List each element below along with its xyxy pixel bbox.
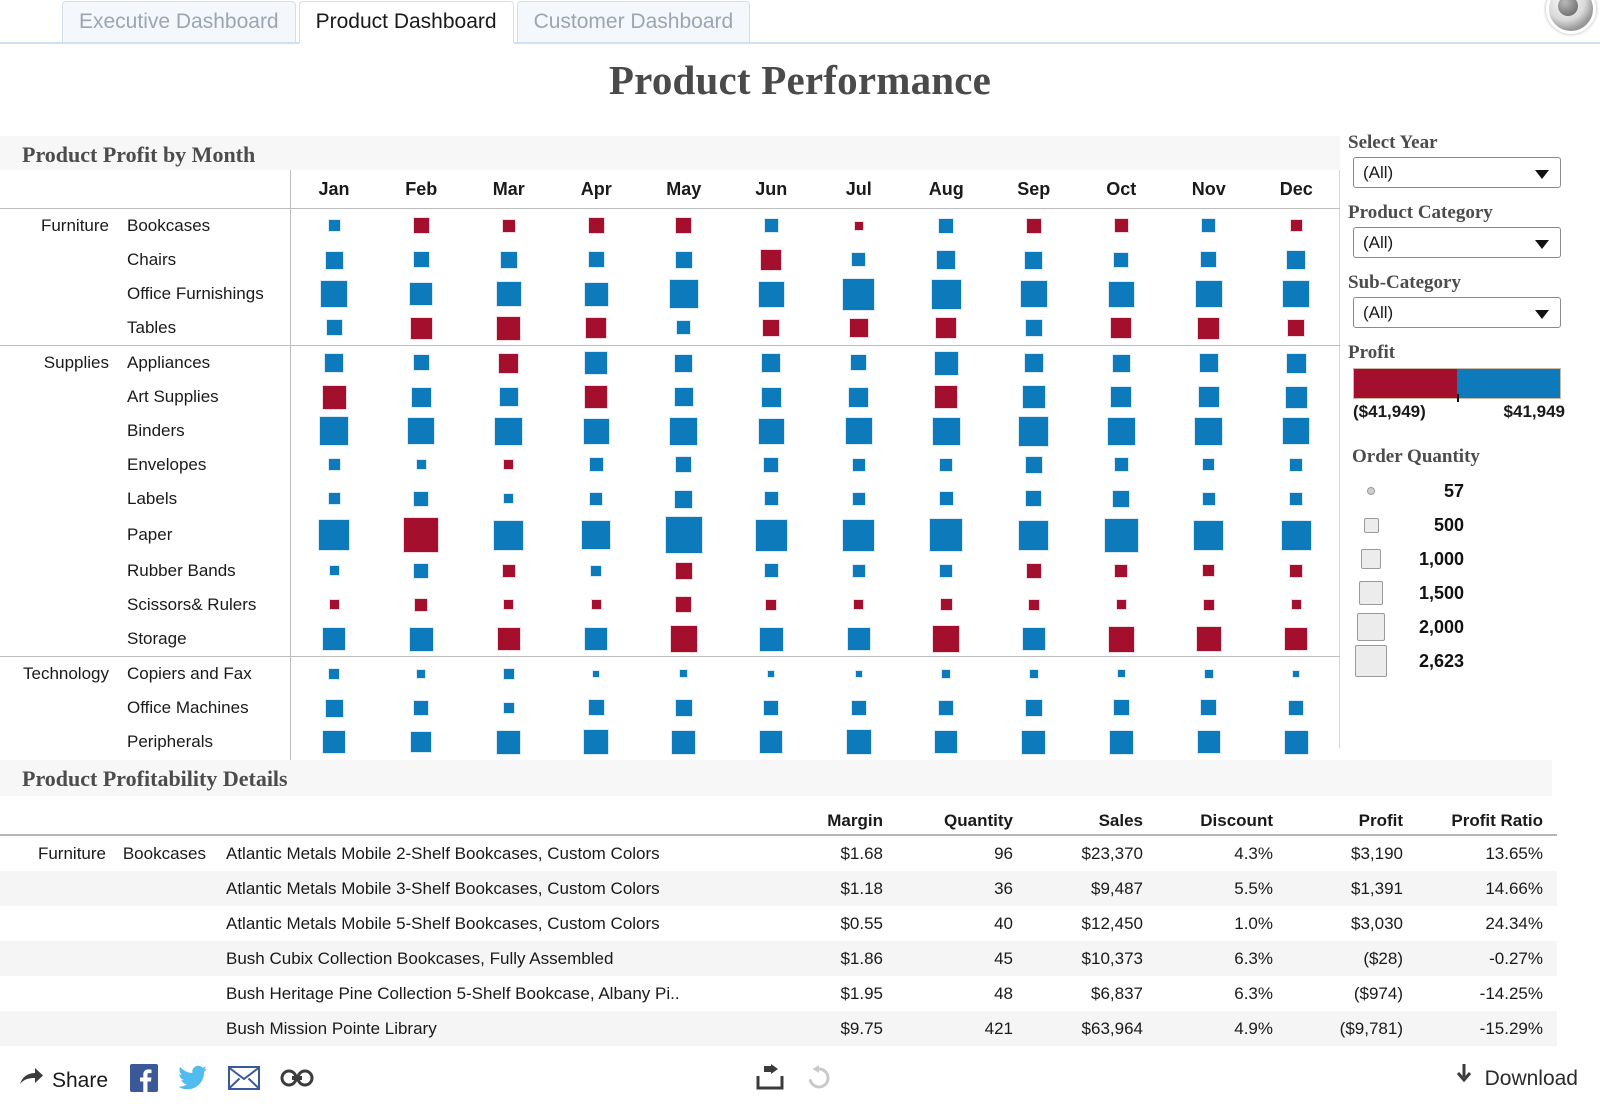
matrix-mark-square[interactable]: [763, 700, 779, 716]
matrix-mark-cell[interactable]: [465, 448, 553, 482]
matrix-mark-square[interactable]: [1022, 627, 1046, 651]
matrix-mark-cell[interactable]: [728, 243, 816, 277]
matrix-mark-cell[interactable]: [553, 209, 641, 244]
matrix-mark-cell[interactable]: [728, 448, 816, 482]
matrix-mark-square[interactable]: [1112, 354, 1131, 373]
matrix-mark-square[interactable]: [1024, 251, 1043, 270]
sub-category-dropdown[interactable]: (All): [1353, 297, 1561, 328]
matrix-mark-square[interactable]: [764, 218, 779, 233]
matrix-mark-square[interactable]: [758, 281, 785, 308]
matrix-mark-square[interactable]: [1292, 670, 1300, 678]
matrix-subcategory-label[interactable]: Chairs: [115, 243, 290, 277]
matrix-mark-cell[interactable]: [815, 691, 903, 725]
matrix-mark-square[interactable]: [1108, 281, 1135, 308]
matrix-mark-square[interactable]: [850, 354, 867, 371]
matrix-mark-square[interactable]: [763, 457, 779, 473]
matrix-mark-square[interactable]: [670, 625, 698, 653]
matrix-mark-cell[interactable]: [1165, 554, 1253, 588]
matrix-mark-cell[interactable]: [378, 516, 466, 554]
matrix-subcategory-label[interactable]: Envelopes: [115, 448, 290, 482]
matrix-mark-square[interactable]: [1204, 669, 1214, 679]
matrix-mark-cell[interactable]: [1253, 588, 1341, 622]
matrix-mark-cell[interactable]: [1165, 311, 1253, 346]
matrix-mark-cell[interactable]: [290, 482, 378, 516]
matrix-mark-square[interactable]: [852, 458, 866, 472]
matrix-mark-square[interactable]: [938, 700, 954, 716]
matrix-mark-square[interactable]: [1114, 218, 1129, 233]
matrix-subcategory-label[interactable]: Office Furnishings: [115, 277, 290, 311]
matrix-mark-square[interactable]: [935, 317, 957, 339]
matrix-mark-square[interactable]: [938, 218, 954, 234]
matrix-mark-cell[interactable]: [903, 448, 991, 482]
matrix-mark-cell[interactable]: [465, 277, 553, 311]
matrix-mark-cell[interactable]: [640, 209, 728, 244]
matrix-mark-cell[interactable]: [465, 691, 553, 725]
matrix-mark-cell[interactable]: [728, 277, 816, 311]
matrix-mark-cell[interactable]: [378, 380, 466, 414]
matrix-mark-cell[interactable]: [1253, 554, 1341, 588]
matrix-mark-cell[interactable]: [990, 725, 1078, 759]
matrix-mark-cell[interactable]: [903, 657, 991, 692]
matrix-mark-square[interactable]: [329, 565, 340, 576]
matrix-mark-cell[interactable]: [815, 243, 903, 277]
matrix-mark-square[interactable]: [1287, 319, 1305, 337]
matrix-mark-square[interactable]: [1195, 280, 1223, 308]
matrix-mark-cell[interactable]: [378, 311, 466, 346]
matrix-mark-cell[interactable]: [1078, 554, 1166, 588]
profit-color-legend[interactable]: [1353, 368, 1561, 399]
matrix-mark-square[interactable]: [1196, 626, 1222, 652]
matrix-mark-square[interactable]: [671, 730, 696, 755]
matrix-category-label[interactable]: [0, 448, 115, 482]
matrix-mark-cell[interactable]: [640, 380, 728, 414]
matrix-mark-cell[interactable]: [290, 243, 378, 277]
matrix-mark-square[interactable]: [322, 730, 346, 754]
matrix-mark-square[interactable]: [1029, 669, 1039, 679]
revert-icon[interactable]: [805, 1064, 833, 1097]
table-row[interactable]: Bush Heritage Pine Collection 5-Shelf Bo…: [0, 976, 1557, 1011]
matrix-mark-cell[interactable]: [1078, 725, 1166, 759]
matrix-mark-cell[interactable]: [990, 554, 1078, 588]
matrix-mark-cell[interactable]: [1078, 209, 1166, 244]
matrix-mark-cell[interactable]: [903, 725, 991, 759]
matrix-mark-square[interactable]: [1025, 456, 1043, 474]
matrix-category-label[interactable]: Supplies: [0, 346, 115, 381]
matrix-category-label[interactable]: [0, 311, 115, 346]
matrix-mark-cell[interactable]: [903, 277, 991, 311]
matrix-category-label[interactable]: [0, 691, 115, 725]
matrix-mark-square[interactable]: [1021, 730, 1046, 755]
matrix-mark-square[interactable]: [764, 563, 779, 578]
matrix-mark-cell[interactable]: [990, 380, 1078, 414]
matrix-mark-cell[interactable]: [990, 516, 1078, 554]
viz-control-knob-icon[interactable]: [1546, 0, 1596, 34]
matrix-mark-square[interactable]: [498, 353, 519, 374]
matrix-mark-square[interactable]: [1109, 730, 1134, 755]
matrix-mark-square[interactable]: [675, 596, 692, 613]
details-col-profit[interactable]: Profit: [1287, 798, 1417, 835]
matrix-mark-cell[interactable]: [640, 482, 728, 516]
matrix-mark-cell[interactable]: [465, 311, 553, 346]
matrix-mark-cell[interactable]: [465, 380, 553, 414]
matrix-mark-cell[interactable]: [1165, 346, 1253, 381]
matrix-mark-square[interactable]: [767, 670, 775, 678]
link-icon[interactable]: [280, 1068, 314, 1093]
matrix-mark-cell[interactable]: [728, 691, 816, 725]
matrix-mark-cell[interactable]: [728, 380, 816, 414]
matrix-mark-cell[interactable]: [290, 691, 378, 725]
matrix-mark-cell[interactable]: [728, 554, 816, 588]
matrix-mark-square[interactable]: [410, 317, 433, 340]
matrix-category-label[interactable]: [0, 482, 115, 516]
matrix-mark-square[interactable]: [940, 598, 953, 611]
matrix-mark-cell[interactable]: [640, 346, 728, 381]
matrix-mark-square[interactable]: [760, 249, 782, 271]
matrix-category-label[interactable]: Furniture: [0, 209, 115, 244]
matrix-mark-square[interactable]: [319, 416, 349, 446]
matrix-mark-square[interactable]: [1018, 416, 1049, 447]
matrix-mark-square[interactable]: [1203, 599, 1215, 611]
matrix-mark-cell[interactable]: [728, 516, 816, 554]
matrix-mark-cell[interactable]: [1078, 657, 1166, 692]
matrix-mark-cell[interactable]: [728, 311, 816, 346]
matrix-mark-cell[interactable]: [378, 209, 466, 244]
matrix-mark-square[interactable]: [1201, 218, 1216, 233]
matrix-mark-square[interactable]: [411, 387, 432, 408]
matrix-category-label[interactable]: [0, 277, 115, 311]
matrix-mark-square[interactable]: [1200, 699, 1217, 716]
matrix-mark-square[interactable]: [1202, 564, 1215, 577]
matrix-mark-cell[interactable]: [1165, 691, 1253, 725]
matrix-mark-square[interactable]: [328, 668, 340, 680]
matrix-mark-cell[interactable]: [990, 448, 1078, 482]
matrix-mark-square[interactable]: [1286, 250, 1306, 270]
matrix-mark-square[interactable]: [676, 320, 691, 335]
matrix-mark-cell[interactable]: [1253, 380, 1341, 414]
matrix-mark-cell[interactable]: [1165, 277, 1253, 311]
matrix-mark-square[interactable]: [1290, 219, 1303, 232]
matrix-mark-square[interactable]: [1028, 599, 1040, 611]
matrix-mark-cell[interactable]: [1165, 725, 1253, 759]
matrix-mark-square[interactable]: [403, 517, 439, 553]
matrix-mark-cell[interactable]: [553, 622, 641, 657]
matrix-mark-square[interactable]: [1026, 218, 1042, 234]
matrix-mark-square[interactable]: [932, 417, 961, 446]
matrix-mark-cell[interactable]: [1165, 209, 1253, 244]
matrix-mark-square[interactable]: [762, 319, 780, 337]
matrix-mark-cell[interactable]: [465, 554, 553, 588]
matrix-mark-square[interactable]: [499, 387, 519, 407]
matrix-mark-square[interactable]: [502, 219, 516, 233]
select-year-dropdown[interactable]: (All): [1353, 157, 1561, 188]
matrix-mark-square[interactable]: [1281, 520, 1312, 551]
matrix-mark-cell[interactable]: [553, 277, 641, 311]
matrix-mark-square[interactable]: [675, 456, 692, 473]
matrix-mark-cell[interactable]: [290, 346, 378, 381]
matrix-mark-cell[interactable]: [728, 588, 816, 622]
matrix-mark-cell[interactable]: [465, 482, 553, 516]
matrix-mark-cell[interactable]: [290, 657, 378, 692]
matrix-mark-cell[interactable]: [728, 725, 816, 759]
matrix-mark-cell[interactable]: [1078, 311, 1166, 346]
product-category-dropdown[interactable]: (All): [1353, 227, 1561, 258]
matrix-mark-square[interactable]: [1107, 417, 1136, 446]
matrix-mark-cell[interactable]: [1165, 380, 1253, 414]
matrix-mark-cell[interactable]: [990, 588, 1078, 622]
matrix-mark-cell[interactable]: [640, 516, 728, 554]
matrix-mark-cell[interactable]: [990, 311, 1078, 346]
table-row[interactable]: FurnitureBookcasesAtlantic Metals Mobile…: [0, 835, 1557, 871]
matrix-category-label[interactable]: [0, 622, 115, 657]
matrix-mark-cell[interactable]: [465, 209, 553, 244]
matrix-mark-cell[interactable]: [1253, 414, 1341, 448]
matrix-mark-cell[interactable]: [903, 622, 991, 657]
matrix-mark-square[interactable]: [503, 668, 515, 680]
matrix-mark-square[interactable]: [409, 627, 434, 652]
matrix-mark-cell[interactable]: [990, 209, 1078, 244]
matrix-mark-cell[interactable]: [815, 209, 903, 244]
matrix-mark-cell[interactable]: [640, 725, 728, 759]
matrix-mark-square[interactable]: [410, 731, 432, 753]
matrix-mark-square[interactable]: [1289, 492, 1303, 506]
matrix-mark-cell[interactable]: [1253, 448, 1341, 482]
matrix-mark-cell[interactable]: [553, 588, 641, 622]
matrix-mark-cell[interactable]: [378, 588, 466, 622]
matrix-subcategory-label[interactable]: Storage: [115, 622, 290, 657]
matrix-mark-square[interactable]: [675, 251, 693, 269]
matrix-mark-square[interactable]: [1025, 490, 1042, 507]
matrix-mark-square[interactable]: [758, 418, 785, 445]
matrix-mark-square[interactable]: [591, 599, 602, 610]
matrix-mark-cell[interactable]: [290, 311, 378, 346]
matrix-category-label[interactable]: [0, 554, 115, 588]
matrix-mark-cell[interactable]: [290, 209, 378, 244]
matrix-mark-square[interactable]: [675, 562, 693, 580]
matrix-mark-cell[interactable]: [1165, 657, 1253, 692]
matrix-mark-cell[interactable]: [640, 448, 728, 482]
matrix-subcategory-label[interactable]: Scissors& Rulers: [115, 588, 290, 622]
download-group[interactable]: Download: [1453, 1064, 1578, 1093]
matrix-mark-cell[interactable]: [553, 516, 641, 554]
matrix-mark-square[interactable]: [1113, 699, 1130, 716]
matrix-subcategory-label[interactable]: Tables: [115, 311, 290, 346]
matrix-mark-square[interactable]: [589, 492, 603, 506]
matrix-mark-cell[interactable]: [815, 657, 903, 692]
matrix-mark-square[interactable]: [583, 418, 610, 445]
matrix-mark-square[interactable]: [1026, 563, 1042, 579]
matrix-mark-square[interactable]: [1117, 669, 1126, 678]
matrix-mark-square[interactable]: [413, 700, 429, 716]
matrix-mark-square[interactable]: [503, 493, 514, 504]
matrix-mark-square[interactable]: [584, 351, 608, 375]
tab-product-dashboard[interactable]: Product Dashboard: [299, 1, 514, 44]
matrix-mark-cell[interactable]: [903, 414, 991, 448]
matrix-mark-square[interactable]: [679, 669, 688, 678]
matrix-mark-cell[interactable]: [378, 691, 466, 725]
share-arrow-icon[interactable]: [18, 1067, 44, 1094]
matrix-mark-square[interactable]: [1022, 385, 1046, 409]
matrix-mark-cell[interactable]: [553, 657, 641, 692]
matrix-mark-square[interactable]: [1197, 317, 1220, 340]
matrix-mark-cell[interactable]: [640, 277, 728, 311]
matrix-mark-cell[interactable]: [728, 414, 816, 448]
matrix-mark-cell[interactable]: [728, 209, 816, 244]
matrix-mark-square[interactable]: [503, 599, 514, 610]
matrix-mark-square[interactable]: [1285, 386, 1308, 409]
matrix-mark-cell[interactable]: [990, 657, 1078, 692]
matrix-mark-square[interactable]: [936, 250, 956, 270]
matrix-mark-cell[interactable]: [465, 414, 553, 448]
matrix-mark-cell[interactable]: [290, 516, 378, 554]
tab-executive-dashboard[interactable]: Executive Dashboard: [62, 1, 296, 44]
matrix-mark-square[interactable]: [325, 699, 344, 718]
matrix-mark-square[interactable]: [1202, 492, 1216, 506]
matrix-mark-square[interactable]: [849, 318, 869, 338]
matrix-mark-square[interactable]: [409, 282, 433, 306]
matrix-mark-square[interactable]: [592, 670, 600, 678]
matrix-mark-square[interactable]: [585, 317, 607, 339]
matrix-mark-cell[interactable]: [553, 311, 641, 346]
matrix-mark-square[interactable]: [852, 492, 866, 506]
matrix-mark-cell[interactable]: [815, 346, 903, 381]
matrix-mark-cell[interactable]: [903, 311, 991, 346]
matrix-mark-cell[interactable]: [553, 346, 641, 381]
matrix-mark-square[interactable]: [588, 251, 605, 268]
matrix-mark-cell[interactable]: [378, 346, 466, 381]
export-icon[interactable]: [755, 1064, 785, 1097]
matrix-mark-cell[interactable]: [290, 725, 378, 759]
matrix-mark-cell[interactable]: [1165, 516, 1253, 554]
matrix-mark-square[interactable]: [665, 516, 703, 554]
matrix-mark-cell[interactable]: [378, 622, 466, 657]
matrix-mark-cell[interactable]: [1253, 691, 1341, 725]
matrix-mark-square[interactable]: [416, 669, 426, 679]
matrix-mark-square[interactable]: [1104, 518, 1139, 553]
matrix-mark-square[interactable]: [1025, 319, 1043, 337]
matrix-mark-square[interactable]: [1114, 564, 1128, 578]
matrix-mark-square[interactable]: [941, 669, 951, 679]
matrix-mark-cell[interactable]: [290, 622, 378, 657]
matrix-mark-cell[interactable]: [640, 657, 728, 692]
matrix-mark-square[interactable]: [329, 599, 340, 610]
matrix-mark-cell[interactable]: [465, 243, 553, 277]
twitter-icon[interactable]: [178, 1064, 208, 1097]
matrix-mark-cell[interactable]: [378, 725, 466, 759]
matrix-mark-cell[interactable]: [990, 414, 1078, 448]
matrix-mark-cell[interactable]: [640, 554, 728, 588]
matrix-mark-square[interactable]: [934, 385, 958, 409]
matrix-mark-square[interactable]: [413, 354, 430, 371]
matrix-mark-cell[interactable]: [1253, 346, 1341, 381]
matrix-mark-square[interactable]: [413, 491, 429, 507]
matrix-mark-cell[interactable]: [1078, 691, 1166, 725]
matrix-mark-cell[interactable]: [903, 380, 991, 414]
matrix-mark-square[interactable]: [1289, 564, 1303, 578]
matrix-mark-square[interactable]: [1112, 490, 1130, 508]
matrix-mark-square[interactable]: [1113, 252, 1129, 268]
matrix-mark-square[interactable]: [588, 217, 605, 234]
matrix-mark-cell[interactable]: [815, 554, 903, 588]
matrix-mark-square[interactable]: [1282, 417, 1310, 445]
matrix-mark-cell[interactable]: [1078, 277, 1166, 311]
matrix-mark-square[interactable]: [669, 417, 698, 446]
matrix-mark-cell[interactable]: [465, 588, 553, 622]
matrix-mark-square[interactable]: [1286, 353, 1307, 374]
matrix-mark-square[interactable]: [322, 385, 347, 410]
matrix-mark-cell[interactable]: [640, 311, 728, 346]
matrix-mark-cell[interactable]: [990, 482, 1078, 516]
matrix-mark-cell[interactable]: [1253, 482, 1341, 516]
matrix-mark-square[interactable]: [497, 627, 521, 651]
matrix-mark-square[interactable]: [324, 353, 344, 373]
matrix-mark-square[interactable]: [496, 316, 521, 341]
matrix-mark-square[interactable]: [1020, 280, 1048, 308]
matrix-mark-square[interactable]: [1288, 700, 1304, 716]
matrix-mark-cell[interactable]: [1165, 448, 1253, 482]
matrix-mark-cell[interactable]: [553, 691, 641, 725]
matrix-mark-square[interactable]: [1200, 251, 1217, 268]
matrix-mark-square[interactable]: [674, 354, 693, 373]
details-col-margin[interactable]: Margin: [767, 798, 897, 835]
matrix-mark-square[interactable]: [590, 565, 602, 577]
matrix-mark-cell[interactable]: [903, 588, 991, 622]
matrix-category-label[interactable]: [0, 516, 115, 554]
matrix-mark-cell[interactable]: [1078, 380, 1166, 414]
matrix-mark-cell[interactable]: [378, 482, 466, 516]
matrix-mark-square[interactable]: [1194, 417, 1223, 446]
matrix-mark-cell[interactable]: [1078, 588, 1166, 622]
matrix-mark-cell[interactable]: [903, 554, 991, 588]
matrix-mark-cell[interactable]: [378, 277, 466, 311]
matrix-mark-square[interactable]: [675, 699, 693, 717]
matrix-mark-square[interactable]: [851, 252, 866, 267]
matrix-mark-cell[interactable]: [1165, 482, 1253, 516]
matrix-mark-square[interactable]: [759, 730, 783, 754]
matrix-mark-cell[interactable]: [290, 277, 378, 311]
matrix-mark-cell[interactable]: [1078, 448, 1166, 482]
matrix-mark-square[interactable]: [500, 251, 518, 269]
matrix-mark-cell[interactable]: [640, 691, 728, 725]
matrix-mark-cell[interactable]: [553, 725, 641, 759]
matrix-mark-cell[interactable]: [815, 311, 903, 346]
matrix-mark-square[interactable]: [325, 251, 344, 270]
matrix-mark-cell[interactable]: [903, 691, 991, 725]
matrix-mark-square[interactable]: [1110, 386, 1132, 408]
matrix-mark-square[interactable]: [1018, 520, 1049, 551]
matrix-subcategory-label[interactable]: Bookcases: [115, 209, 290, 244]
matrix-mark-cell[interactable]: [815, 622, 903, 657]
matrix-mark-cell[interactable]: [378, 448, 466, 482]
matrix-mark-cell[interactable]: [1253, 209, 1341, 244]
matrix-mark-cell[interactable]: [465, 346, 553, 381]
matrix-mark-cell[interactable]: [815, 380, 903, 414]
matrix-mark-cell[interactable]: [1078, 622, 1166, 657]
matrix-mark-square[interactable]: [932, 625, 960, 653]
matrix-mark-cell[interactable]: [290, 554, 378, 588]
matrix-subcategory-label[interactable]: Binders: [115, 414, 290, 448]
matrix-subcategory-label[interactable]: Paper: [115, 516, 290, 554]
matrix-mark-square[interactable]: [854, 221, 864, 231]
matrix-subcategory-label[interactable]: Rubber Bands: [115, 554, 290, 588]
matrix-subcategory-label[interactable]: Office Machines: [115, 691, 290, 725]
matrix-mark-cell[interactable]: [553, 414, 641, 448]
matrix-mark-cell[interactable]: [640, 243, 728, 277]
matrix-mark-square[interactable]: [674, 387, 694, 407]
matrix-mark-cell[interactable]: [1078, 414, 1166, 448]
matrix-mark-square[interactable]: [318, 519, 350, 551]
matrix-mark-square[interactable]: [328, 219, 341, 232]
matrix-mark-square[interactable]: [929, 518, 963, 552]
